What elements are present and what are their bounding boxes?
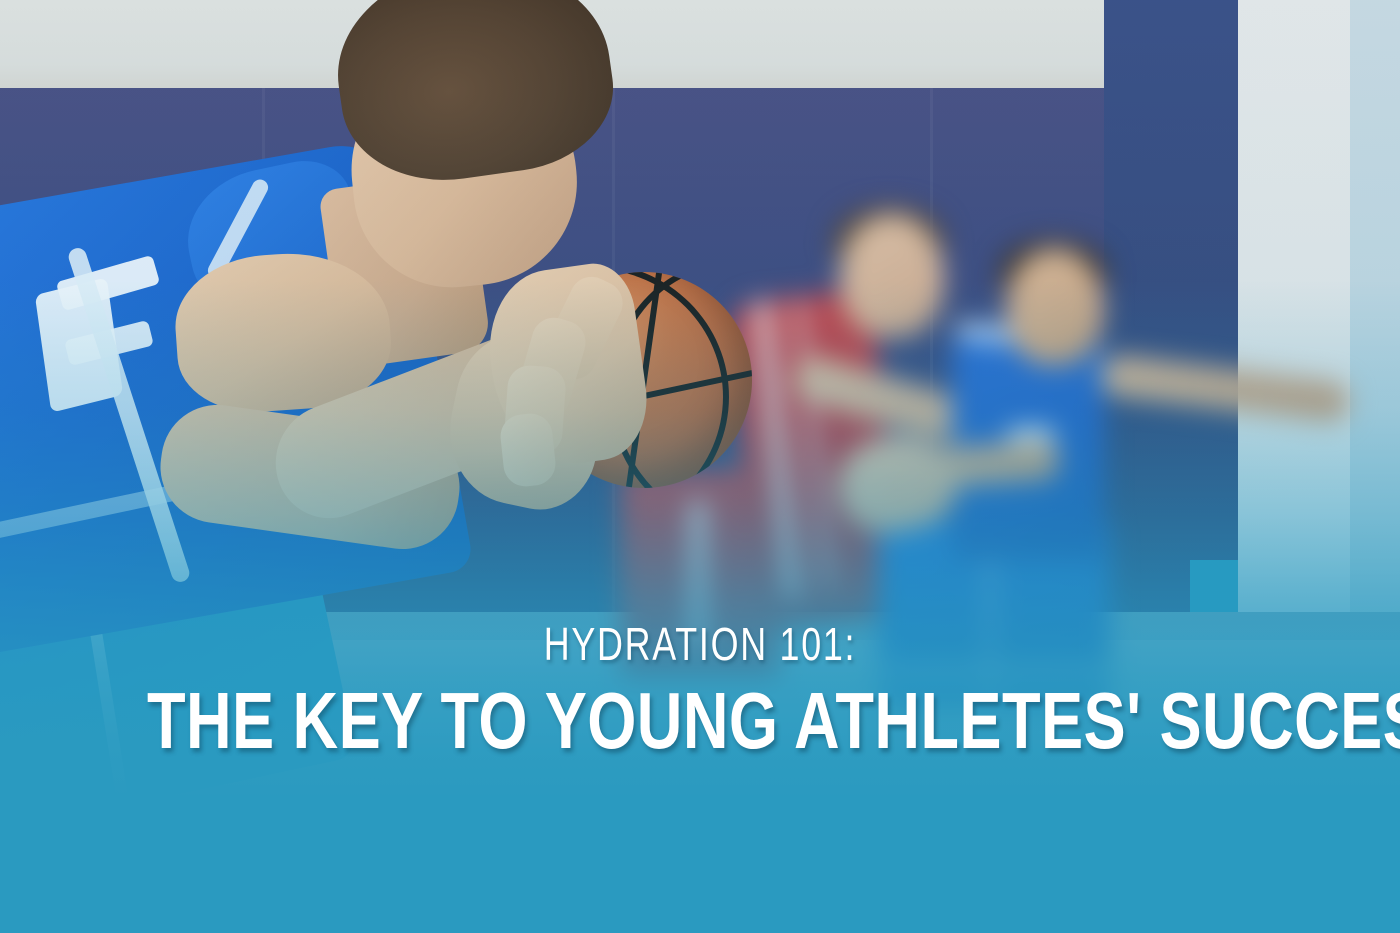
banner-title-block: HYDRATION 101: THE KEY TO YOUNG ATHLETES…	[0, 618, 1400, 764]
cyan-gradient-overlay	[0, 0, 1400, 933]
banner-title-line2: THE KEY TO YOUNG ATHLETES' SUCCESS	[147, 678, 1253, 764]
banner-title-line1: HYDRATION 101:	[154, 618, 1246, 670]
hero-banner: HYDRATION 101: THE KEY TO YOUNG ATHLETES…	[0, 0, 1400, 933]
